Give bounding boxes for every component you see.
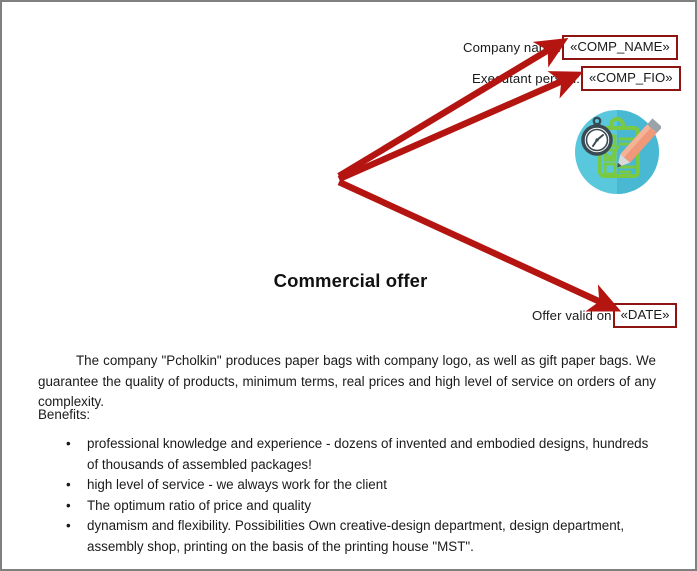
list-item-text: professional knowledge and experience - … bbox=[87, 436, 648, 472]
document-page: Company name: «COMP_NAME» Executant pers… bbox=[0, 0, 697, 571]
benefits-list: • professional knowledge and experience … bbox=[38, 434, 656, 557]
list-item-text: The optimum ratio of price and quality bbox=[87, 498, 311, 513]
offer-valid-on-label: Offer valid on bbox=[532, 308, 612, 323]
list-item-text: dynamism and flexibility. Possibilities … bbox=[87, 518, 624, 554]
page-title: Commercial offer bbox=[2, 270, 697, 292]
benefits-heading: Benefits: bbox=[38, 407, 90, 422]
executant-person-label: Executant person: bbox=[472, 71, 580, 86]
list-item: • high level of service - we always work… bbox=[38, 475, 656, 496]
company-name-label: Company name: bbox=[463, 40, 561, 55]
field-row-company-name: Company name: «COMP_NAME» bbox=[463, 35, 678, 60]
document-body: Company name: «COMP_NAME» Executant pers… bbox=[2, 2, 695, 569]
field-row-offer-valid-on: Offer valid on «DATE» bbox=[532, 303, 677, 328]
bullet-icon: • bbox=[66, 516, 71, 537]
executant-person-token[interactable]: «COMP_FIO» bbox=[581, 66, 681, 91]
offer-date-token[interactable]: «DATE» bbox=[613, 303, 678, 328]
company-name-token[interactable]: «COMP_NAME» bbox=[562, 35, 678, 60]
bullet-icon: • bbox=[66, 434, 71, 455]
bullet-icon: • bbox=[66, 475, 71, 496]
list-item-text: high level of service - we always work f… bbox=[87, 477, 387, 492]
arrow-to-executant-person bbox=[339, 78, 569, 179]
field-row-executant-person: Executant person: «COMP_FIO» bbox=[472, 66, 681, 91]
list-item: • professional knowledge and experience … bbox=[38, 434, 656, 475]
clipboard-checklist-stopwatch-logo bbox=[573, 108, 661, 196]
intro-paragraph: The company "Pcholkin" produces paper ba… bbox=[38, 351, 656, 413]
list-item: • dynamism and flexibility. Possibilitie… bbox=[38, 516, 656, 557]
list-item: • The optimum ratio of price and quality bbox=[38, 496, 656, 517]
bullet-icon: • bbox=[66, 496, 71, 517]
